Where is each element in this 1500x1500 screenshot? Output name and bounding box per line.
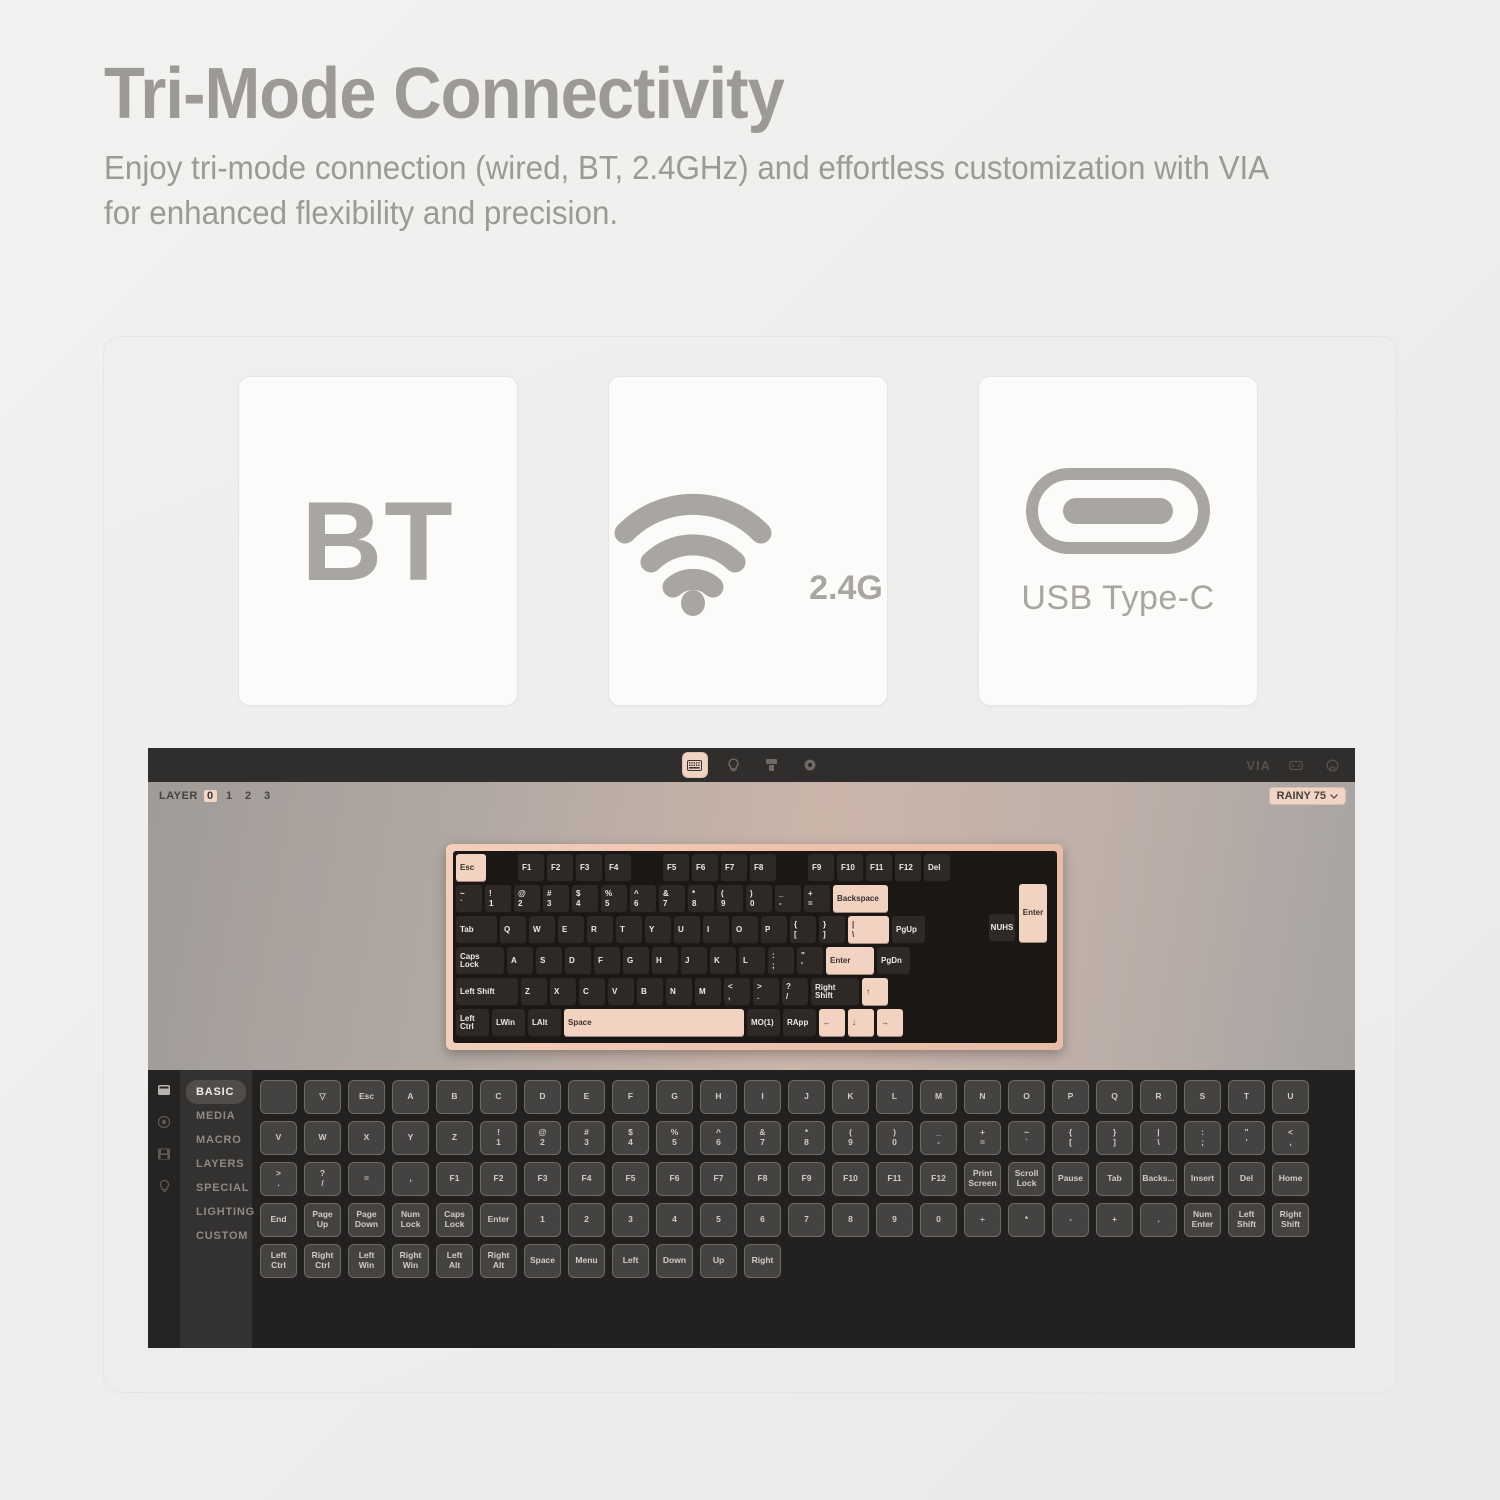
picker-key[interactable]: :; [1184,1121,1221,1155]
keyboard-key[interactable]: Caps Lock [456,947,504,975]
keyboard-key[interactable]: PgUp [892,916,925,944]
picker-key[interactable]: Up [700,1244,737,1278]
picker-key[interactable]: |\ [1140,1121,1177,1155]
keyboard-key[interactable]: K [710,947,736,975]
picker-key[interactable]: &7 [744,1121,781,1155]
picker-key[interactable]: PrintScreen [964,1162,1001,1196]
keyboard-key[interactable]: ^6 [630,885,656,913]
keyboard-key[interactable]: F3 [576,854,602,882]
keyboard-key[interactable]: → [877,1009,903,1037]
keyboard-key[interactable]: Tab [456,916,497,944]
picker-key[interactable]: 2 [568,1203,605,1237]
picker-menu-item-basic[interactable]: BASIC [186,1080,246,1104]
keyboard-icon[interactable] [683,753,707,777]
picker-key[interactable]: Enter [480,1203,517,1237]
layer-option-3[interactable]: 3 [261,790,274,802]
picker-key[interactable]: . [1140,1203,1177,1237]
picker-key[interactable]: <, [1272,1121,1309,1155]
picker-key[interactable]: @2 [524,1121,561,1155]
keyboard-key[interactable]: @2 [514,885,540,913]
picker-key[interactable]: Esc [348,1080,385,1114]
picker-key[interactable]: Z [436,1121,473,1155]
picker-key[interactable]: V [260,1121,297,1155]
keyboard-key[interactable]: U [674,916,700,944]
keyboard-key[interactable]: D [565,947,591,975]
nuhs-key[interactable]: NUHS [989,914,1015,942]
card-usb-type-c: USB Type-C [978,376,1258,706]
wifi-icon [613,481,803,616]
keyboard-row: EscF1F2F3F4F5F6F7F8F9F10F11F12Del [456,854,1054,882]
keyboard-key[interactable]: !1 [485,885,511,913]
keyboard-key[interactable]: Left Shift [456,978,518,1006]
keyboard-key[interactable]: M [695,978,721,1006]
picker-key[interactable]: F4 [568,1162,605,1196]
card-wireless-24g: 2.4G [608,376,888,706]
picker-key[interactable]: ScrollLock [1008,1162,1045,1196]
keyboard-key[interactable]: F11 [866,854,892,882]
keyboard-key[interactable]: F8 [750,854,776,882]
layer-selector[interactable]: LAYER 0 1 2 3 [159,790,274,802]
keyboard-spacer [779,854,805,882]
picker-key[interactable]: }] [1096,1121,1133,1155]
picker-row: LeftCtrlRightCtrlLeftWinRightWinLeftAltR… [260,1244,1347,1278]
keyboard-row: Left ShiftZXCVBNM<,>.?/Right Shift↑ [456,978,1054,1006]
picker-key[interactable]: LeftWin [348,1244,385,1278]
device-select-value: RAINY 75 [1277,790,1326,802]
picker-key[interactable]: H [700,1080,737,1114]
keyboard-spacer [489,854,515,882]
layer-option-1[interactable]: 1 [223,790,236,802]
picker-key[interactable]: RightWin [392,1244,429,1278]
picker-key[interactable]: += [964,1121,1001,1155]
gear-icon[interactable] [799,754,821,776]
keyboard-row: Left CtrlLWinLAltSpaceMO(1)RApp←↓→ [456,1009,1054,1037]
numpad-enter-key[interactable]: Enter [1019,884,1047,943]
picker-key[interactable]: CapsLock [436,1203,473,1237]
keyboard-key[interactable]: G [623,947,649,975]
keyboard-key[interactable]: N [666,978,692,1006]
keyboard-key[interactable]: F1 [518,854,544,882]
picker-key[interactable]: (9 [832,1121,869,1155]
keyboard-key[interactable]: ← [819,1009,845,1037]
keyboard-key[interactable]: E [558,916,584,944]
keyboard-key[interactable]: F7 [721,854,747,882]
layer-option-2[interactable]: 2 [242,790,255,802]
picker-key[interactable]: LeftAlt [436,1244,473,1278]
keyboard-key[interactable]: MO(1) [747,1009,780,1037]
keyboard-key[interactable]: |\ [848,916,889,944]
picker-key[interactable]: + [1096,1203,1133,1237]
keyboard-key[interactable]: Y [645,916,671,944]
via-brand: VIA [1246,758,1271,773]
picker-key[interactable]: U [1272,1080,1309,1114]
keyboard-key[interactable]: Q [500,916,526,944]
key-picker: BASICMEDIAMACROLAYERSSPECIALLIGHTINGCUST… [148,1070,1355,1348]
picker-key[interactable]: R [1140,1080,1177,1114]
picker-key[interactable]: L [876,1080,913,1114]
picker-key[interactable]: M [920,1080,957,1114]
lightbulb-icon[interactable] [156,1178,172,1194]
picker-key[interactable]: 1 [524,1203,561,1237]
picker-key[interactable]: F1 [436,1162,473,1196]
keyboard-key[interactable]: ?/ [782,978,808,1006]
keyboard-row: ~`!1@2#3$4%5^6&7*8(9)0_-+=Backspace [456,885,1054,913]
picker-key[interactable]: * [1008,1203,1045,1237]
picker-key[interactable]: PageDown [348,1203,385,1237]
chevron-down-icon [1330,794,1338,799]
picker-key[interactable]: LeftShift [1228,1203,1265,1237]
keyboard-key[interactable]: PgDn [877,947,910,975]
keyboard-key[interactable]: P [761,916,787,944]
keyboard-key[interactable]: *8 [688,885,714,913]
picker-key[interactable]: ▽ [304,1080,341,1114]
keyboard-key[interactable]: F9 [808,854,834,882]
keyboard-key[interactable]: F [594,947,620,975]
layer-option-0[interactable]: 0 [204,790,217,802]
keyboard-key[interactable]: F5 [663,854,689,882]
keyboard-key[interactable]: _- [775,885,801,913]
picker-menu-item-lighting[interactable]: LIGHTING [186,1200,246,1224]
picker-key[interactable]: ~` [1008,1121,1045,1155]
picker-key[interactable]: A [392,1080,429,1114]
picker-row: VWXYZ!1@2#3$4%5^6&7*8(9)0_-+=~`{[}]|\:;"… [260,1121,1347,1155]
picker-key[interactable]: !1 [480,1121,517,1155]
picker-key[interactable]: Right [744,1244,781,1278]
picker-key[interactable]: F8 [744,1162,781,1196]
keyboard-key[interactable]: RApp [783,1009,816,1037]
keyboard-preview-stage: LAYER 0 1 2 3 RAINY 75 EscF1F2F3F4F5F6F7… [148,782,1355,1070]
picker-key[interactable]: End [260,1203,297,1237]
keyboard-key[interactable]: Del [924,854,950,882]
keyboard-key[interactable]: {[ [790,916,816,944]
keyboard-key[interactable]: $4 [572,885,598,913]
picker-key[interactable]: P [1052,1080,1089,1114]
picker-row: >.?/=,F1F2F3F4F5F6F7F8F9F10F11F12PrintSc… [260,1162,1347,1196]
picker-key[interactable]: *8 [788,1121,825,1155]
picker-key[interactable]: , [392,1162,429,1196]
keyboard-key[interactable]: O [732,916,758,944]
picker-key[interactable]: Backs... [1140,1162,1177,1196]
page-title: Tri-Mode Connectivity [104,58,1402,130]
picker-key[interactable]: F9 [788,1162,825,1196]
keyboard-key[interactable]: Esc [456,854,486,882]
picker-key[interactable]: {[ [1052,1121,1089,1155]
picker-key[interactable]: S [1184,1080,1221,1114]
picker-key[interactable]: Left [612,1244,649,1278]
record-icon[interactable] [156,1114,172,1130]
keyboard-key[interactable]: ↑ [862,978,888,1006]
picker-row: EndPageUpPageDownNumLockCapsLockEnter123… [260,1203,1347,1237]
keyboard-key[interactable]: :; [768,947,794,975]
keyboard-row: Caps LockASDFGHJKL:;"'EnterPgDn [456,947,1054,975]
keyboard-key[interactable]: Right Shift [811,978,859,1006]
picker-key[interactable]: D [524,1080,561,1114]
picker-key[interactable]: LeftCtrl [260,1244,297,1278]
picker-key[interactable]: Q [1096,1080,1133,1114]
picker-key[interactable]: I [744,1080,781,1114]
picker-key[interactable]: F3 [524,1162,561,1196]
picker-key[interactable]: 5 [700,1203,737,1237]
picker-menu-item-special[interactable]: SPECIAL [186,1176,246,1200]
keyboard-key[interactable]: LAlt [528,1009,561,1037]
keyboard-key[interactable]: A [507,947,533,975]
connectivity-cards: BT 2.4G USB Type-C [238,376,1258,706]
keyboard-key[interactable]: Space [564,1009,744,1037]
picker-key[interactable]: G [656,1080,693,1114]
picker-key[interactable]: ÷ [964,1203,1001,1237]
picker-rail [148,1070,180,1348]
picker-key[interactable]: E [568,1080,605,1114]
keyboard-spacer [634,854,660,882]
picker-key[interactable]: NumEnter [1184,1203,1221,1237]
keyboard-key[interactable]: X [550,978,576,1006]
content-panel: BT 2.4G USB Type-C [104,337,1396,1392]
bt-label: BT [301,477,454,606]
picker-key[interactable]: W [304,1121,341,1155]
page-header: Tri-Mode Connectivity Enjoy tri-mode con… [0,0,1500,236]
picker-key[interactable]: _- [920,1121,957,1155]
usb-c-label: USB Type-C [1021,579,1214,618]
picker-row: ▽EscABCDEFGHIJKLMNOPQRSTU [260,1080,1347,1114]
picker-key[interactable]: 9 [876,1203,913,1237]
picker-key[interactable]: F5 [612,1162,649,1196]
keyboard-key[interactable]: I [703,916,729,944]
keyboard-key[interactable]: Left Ctrl [456,1009,489,1037]
picker-menu-item-media[interactable]: MEDIA [186,1104,246,1128]
keyboard-key[interactable]: Backspace [833,885,888,913]
picker-menu[interactable]: BASICMEDIAMACROLAYERSSPECIALLIGHTINGCUST… [180,1070,252,1348]
picker-key[interactable] [260,1080,297,1114]
picker-key[interactable]: RightAlt [480,1244,517,1278]
keyboard-key[interactable]: LWin [492,1009,525,1037]
via-app-screenshot: VIA LAYER 0 1 [148,748,1355,1348]
keyboard-key[interactable]: H [652,947,678,975]
picker-key[interactable]: 8 [832,1203,869,1237]
save-icon[interactable] [156,1146,172,1162]
picker-key[interactable]: F10 [832,1162,869,1196]
usb-c-icon [1023,465,1213,557]
picker-key[interactable]: )0 [876,1121,913,1155]
layer-label: LAYER [159,790,198,802]
keyboard-key[interactable]: C [579,978,605,1006]
picker-key[interactable]: NumLock [392,1203,429,1237]
picker-key[interactable]: N [964,1080,1001,1114]
keyboard-key[interactable]: >. [753,978,779,1006]
device-select[interactable]: RAINY 75 [1270,788,1345,804]
keyboard-key[interactable]: Enter [826,947,874,975]
picker-key[interactable]: >. [260,1162,297,1196]
picker-key[interactable]: O [1008,1080,1045,1114]
page-subtitle: Enjoy tri-mode connection (wired, BT, 2.… [104,146,1301,236]
app-toolbar: VIA [148,748,1355,782]
picker-key[interactable]: X [348,1121,385,1155]
keyboard-key[interactable]: )0 [746,885,772,913]
lightbulb-icon[interactable] [723,754,745,776]
picker-key[interactable]: = [348,1162,385,1196]
keyboard-key[interactable]: B [637,978,663,1006]
keyboard-key[interactable]: (9 [717,885,743,913]
keyboard-key[interactable]: &7 [659,885,685,913]
picker-key[interactable]: K [832,1080,869,1114]
keyboard-key[interactable]: F4 [605,854,631,882]
keyboard-key[interactable]: T [616,916,642,944]
picker-key[interactable]: Insert [1184,1162,1221,1196]
picker-menu-item-layers[interactable]: LAYERS [186,1152,246,1176]
picker-key[interactable]: F12 [920,1162,957,1196]
picker-key[interactable]: 7 [788,1203,825,1237]
picker-key[interactable]: F6 [656,1162,693,1196]
picker-key[interactable]: ?/ [304,1162,341,1196]
keyboard-render: EscF1F2F3F4F5F6F7F8F9F10F11F12Del~`!1@2#… [446,844,1063,1050]
keyboard-key[interactable]: += [804,885,830,913]
keyboard-settings-icon[interactable] [156,1082,172,1098]
picker-key[interactable]: $4 [612,1121,649,1155]
picker-key[interactable]: 4 [656,1203,693,1237]
keyboard-key[interactable]: J [681,947,707,975]
keyboard-key[interactable]: W [529,916,555,944]
keyboard-key[interactable]: F6 [692,854,718,882]
picker-key[interactable]: F11 [876,1162,913,1196]
keyboard-key[interactable]: <, [724,978,750,1006]
picker-key[interactable]: B [436,1080,473,1114]
picker-menu-item-macro[interactable]: MACRO [186,1128,246,1152]
keyboard-key[interactable]: S [536,947,562,975]
picker-key[interactable]: PageUp [304,1203,341,1237]
picker-key[interactable]: C [480,1080,517,1114]
picker-key[interactable]: Space [524,1244,561,1278]
keyboard-row: TabQWERTYUIOP{[}]|\PgUp [456,916,1054,944]
keyboard-key[interactable]: F2 [547,854,573,882]
picker-key[interactable]: 6 [744,1203,781,1237]
github-icon[interactable] [1321,754,1343,776]
picker-menu-item-custom[interactable]: CUSTOM [186,1224,246,1248]
keyboard-key[interactable]: Z [521,978,547,1006]
picker-grid[interactable]: ▽EscABCDEFGHIJKLMNOPQRSTUVWXYZ!1@2#3$4%5… [252,1070,1355,1348]
keyboard-key[interactable]: V [608,978,634,1006]
picker-key[interactable]: 0 [920,1203,957,1237]
picker-key[interactable]: Del [1228,1162,1265,1196]
keyboard-key[interactable]: R [587,916,613,944]
picker-key[interactable]: Y [392,1121,429,1155]
picker-key[interactable]: F2 [480,1162,517,1196]
picker-key[interactable]: 3 [612,1203,649,1237]
picker-key[interactable]: F [612,1080,649,1114]
keyboard-key[interactable]: F12 [895,854,921,882]
picker-key[interactable]: F7 [700,1162,737,1196]
picker-key[interactable]: Menu [568,1244,605,1278]
wifi-label: 2.4G [809,569,883,608]
picker-key[interactable]: RightShift [1272,1203,1309,1237]
picker-key[interactable]: Home [1272,1162,1309,1196]
keyboard-key[interactable]: ~` [456,885,482,913]
picker-key[interactable]: %5 [656,1121,693,1155]
save-icon[interactable] [761,754,783,776]
keyboard-key[interactable]: %5 [601,885,627,913]
keyboard-key[interactable]: }] [819,916,845,944]
card-bluetooth: BT [238,376,518,706]
picker-key[interactable]: Pause [1052,1162,1089,1196]
picker-key[interactable]: RightCtrl [304,1244,341,1278]
picker-key[interactable]: Tab [1096,1162,1133,1196]
picker-key[interactable]: #3 [568,1121,605,1155]
picker-key[interactable]: - [1052,1203,1089,1237]
picker-key[interactable]: ^6 [700,1121,737,1155]
docs-icon[interactable] [1285,754,1307,776]
picker-key[interactable]: "' [1228,1121,1265,1155]
keyboard-key[interactable]: F10 [837,854,863,882]
keyboard-keys[interactable]: EscF1F2F3F4F5F6F7F8F9F10F11F12Del~`!1@2#… [453,851,1057,1043]
keyboard-key[interactable]: #3 [543,885,569,913]
picker-key[interactable]: Down [656,1244,693,1278]
keyboard-key[interactable]: "' [797,947,823,975]
keyboard-key[interactable]: ↓ [848,1009,874,1037]
keyboard-key[interactable]: L [739,947,765,975]
picker-key[interactable]: T [1228,1080,1265,1114]
picker-key[interactable]: J [788,1080,825,1114]
